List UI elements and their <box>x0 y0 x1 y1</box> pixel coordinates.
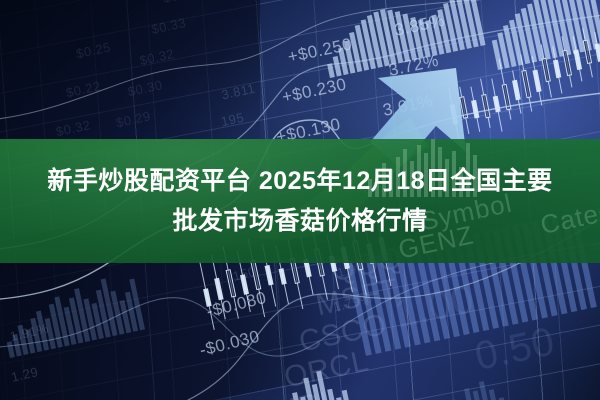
title-line-1: 新手炒股配资平台 2025年12月18日全国主要 <box>47 161 552 201</box>
banner-image: $0.41 $0.33 $0.32 $0.30 $0.29 $0.28 $0.2… <box>0 0 600 400</box>
title-line-2: 批发市场香菇价格行情 <box>172 201 427 241</box>
banner-title: 新手炒股配资平台 2025年12月18日全国主要 批发市场香菇价格行情 <box>0 139 600 263</box>
